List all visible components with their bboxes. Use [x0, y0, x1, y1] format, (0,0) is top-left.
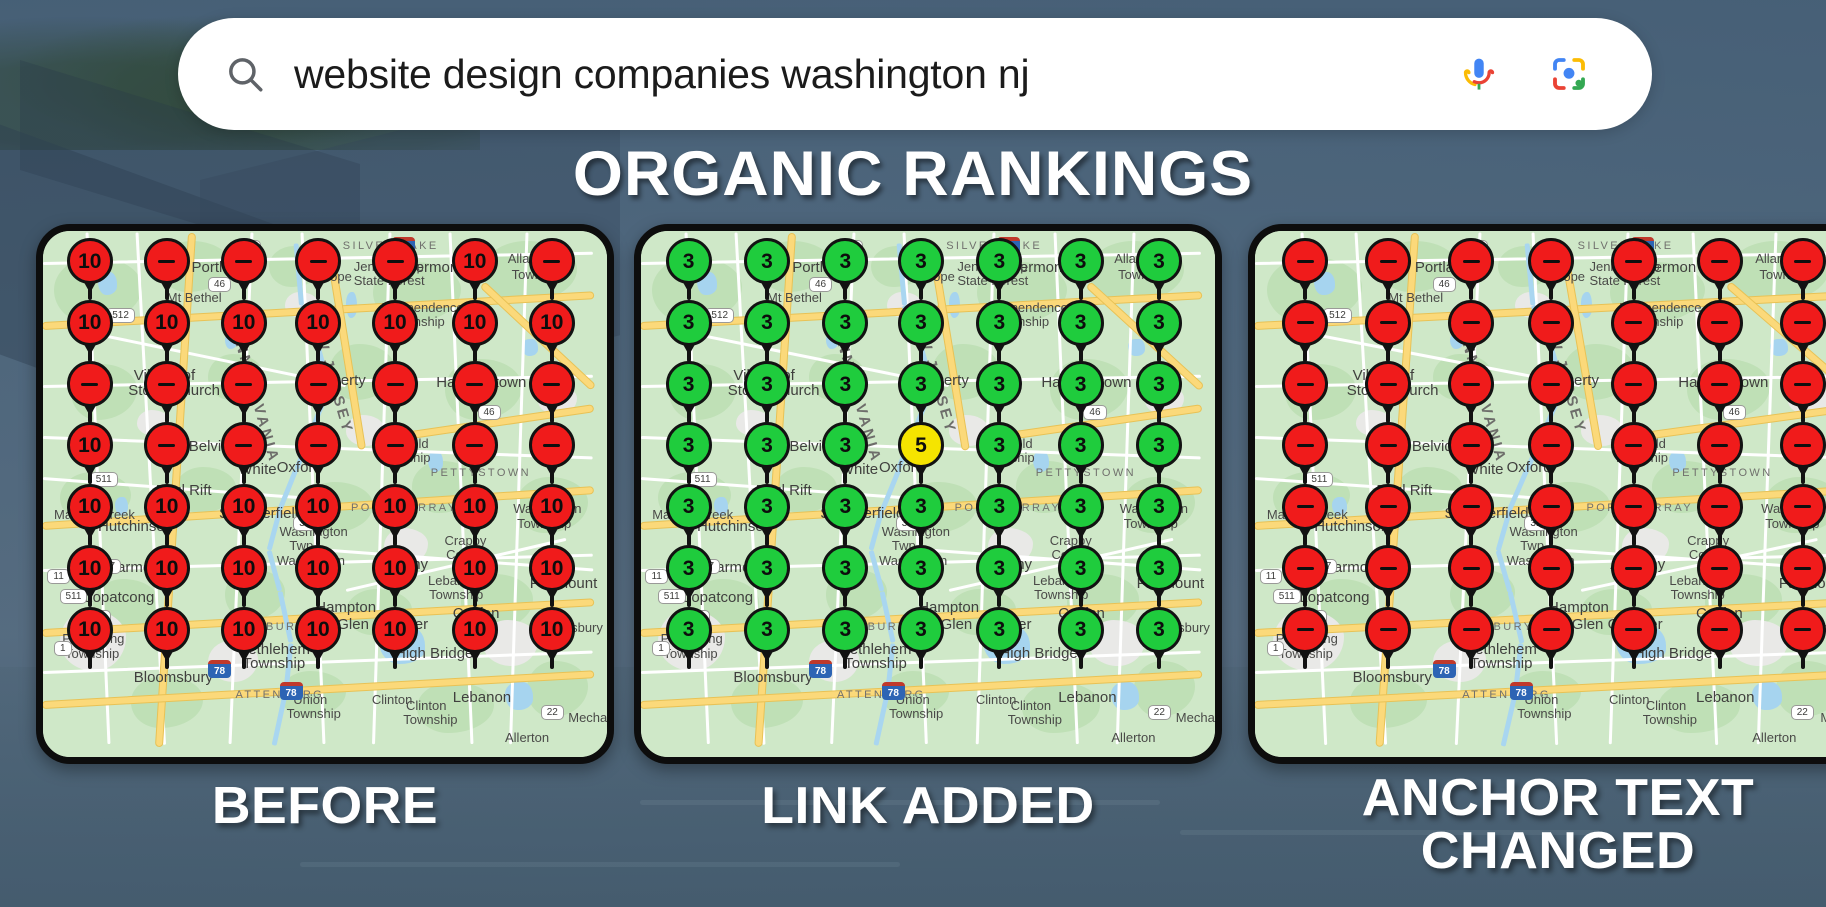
map-route-shield: 11 — [1260, 569, 1282, 584]
caption-before: BEFORE — [27, 780, 622, 833]
pin-rank-label — [1528, 607, 1574, 653]
map-rank-pin[interactable] — [1448, 545, 1494, 607]
map-rank-pin[interactable]: 10 — [529, 607, 575, 669]
map-rank-pin[interactable] — [1611, 238, 1657, 300]
map-rank-pin[interactable] — [1282, 361, 1328, 423]
search-input[interactable] — [294, 51, 1458, 98]
map-rank-pin[interactable]: 10 — [372, 545, 418, 607]
caption-line: ANCHOR TEXT — [1239, 772, 1826, 825]
map-rank-pin[interactable]: 10 — [67, 484, 113, 546]
pin-no-rank-dash — [310, 383, 327, 386]
map-rank-pin[interactable]: 10 — [529, 545, 575, 607]
map-rank-pin[interactable] — [1365, 607, 1411, 669]
map-rank-pin[interactable]: 10 — [529, 300, 575, 362]
map-rank-pin[interactable] — [144, 422, 190, 484]
map-rank-pin[interactable] — [1611, 607, 1657, 669]
map-rank-pin[interactable]: 3 — [1136, 545, 1182, 607]
map-rank-pin[interactable] — [1528, 484, 1574, 546]
pin-rank-label — [1282, 300, 1328, 346]
pin-rank-label: 10 — [529, 300, 575, 346]
pin-rank-label — [1528, 484, 1574, 530]
pin-no-rank-dash — [158, 260, 175, 263]
pin-no-rank-dash — [1794, 444, 1811, 447]
map-rank-pin[interactable] — [1611, 300, 1657, 362]
map-rank-pin[interactable]: 3 — [976, 422, 1022, 484]
pin-rank-label — [1611, 300, 1657, 346]
pin-rank-label — [295, 422, 341, 468]
pin-rank-label: 10 — [67, 607, 113, 653]
map-rank-pin[interactable]: 3 — [1058, 300, 1104, 362]
map-rank-pin[interactable] — [1611, 422, 1657, 484]
map-rank-pin[interactable] — [1780, 607, 1826, 669]
pin-rank-label: 10 — [144, 607, 190, 653]
pin-no-rank-dash — [1463, 505, 1480, 508]
map-rank-pin[interactable]: 3 — [1058, 484, 1104, 546]
pin-no-rank-dash — [1625, 444, 1642, 447]
pin-rank-label — [1611, 607, 1657, 653]
map-rank-pin[interactable] — [1528, 422, 1574, 484]
map-rank-pin[interactable]: 3 — [976, 300, 1022, 362]
map-rank-pin[interactable] — [1282, 238, 1328, 300]
map-rank-pin[interactable]: 3 — [1136, 607, 1182, 669]
pin-rank-label — [1282, 238, 1328, 284]
map-rank-pin[interactable] — [1448, 422, 1494, 484]
microphone-icon[interactable] — [1458, 53, 1500, 95]
pin-rank-label — [1528, 422, 1574, 468]
pin-no-rank-dash — [1297, 567, 1314, 570]
map-water-body — [1752, 682, 1782, 710]
pin-no-rank-dash — [1794, 567, 1811, 570]
map-rank-pin[interactable]: 10 — [372, 484, 418, 546]
pin-rank-label: 10 — [452, 300, 498, 346]
pin-rank-label: 10 — [529, 607, 575, 653]
pin-no-rank-dash — [158, 444, 175, 447]
pin-rank-label — [1448, 361, 1494, 407]
pin-rank-label: 3 — [744, 300, 790, 346]
map-rank-pin[interactable]: 3 — [976, 361, 1022, 423]
map-rank-pin[interactable]: 3 — [744, 238, 790, 300]
pin-rank-label: 3 — [822, 545, 868, 591]
pin-rank-label — [1365, 545, 1411, 591]
map-rank-pin[interactable] — [1780, 300, 1826, 362]
map-rank-pin[interactable] — [1448, 361, 1494, 423]
map-rank-pin[interactable]: 3 — [898, 300, 944, 362]
pin-no-rank-dash — [387, 260, 404, 263]
pin-no-rank-dash — [235, 383, 252, 386]
map-rank-pin[interactable]: 10 — [452, 607, 498, 669]
map-rank-pin[interactable]: 3 — [666, 422, 712, 484]
map-rank-pin[interactable]: 3 — [822, 422, 868, 484]
map-rank-pin[interactable] — [452, 361, 498, 423]
map-rank-pin[interactable] — [529, 422, 575, 484]
pin-no-rank-dash — [1711, 567, 1728, 570]
pin-rank-label: 3 — [1058, 300, 1104, 346]
map-route-shield: 22 — [541, 705, 564, 720]
map-rank-pin[interactable]: 10 — [67, 545, 113, 607]
map-river — [874, 694, 890, 746]
pin-rank-label: 3 — [976, 422, 1022, 468]
pin-no-rank-dash — [1625, 321, 1642, 324]
pin-rank-label: 3 — [898, 238, 944, 284]
map-rank-pin[interactable] — [1697, 361, 1743, 423]
map-rank-pin[interactable] — [1697, 484, 1743, 546]
map-rank-pin[interactable] — [529, 238, 575, 300]
map-rank-pin[interactable]: 10 — [67, 422, 113, 484]
pin-no-rank-dash — [1543, 321, 1560, 324]
map-rank-pin[interactable] — [1780, 484, 1826, 546]
map-rank-pin[interactable] — [221, 361, 267, 423]
pin-rank-label: 3 — [822, 422, 868, 468]
pin-rank-label: 3 — [1136, 484, 1182, 530]
map-route-shield: 22 — [1148, 705, 1171, 720]
map-rank-pin[interactable]: 10 — [144, 607, 190, 669]
pin-rank-label: 10 — [67, 545, 113, 591]
map-rank-pin[interactable]: 3 — [898, 484, 944, 546]
map-rank-pin[interactable] — [1282, 300, 1328, 362]
pin-rank-label: 3 — [976, 607, 1022, 653]
map-river — [272, 694, 288, 746]
map-rank-pin[interactable] — [1448, 484, 1494, 546]
map-rank-pin[interactable]: 3 — [898, 361, 944, 423]
map-place-label: Bloomsbury — [733, 669, 812, 686]
map-rank-pin[interactable] — [1365, 300, 1411, 362]
map-route-shield: 22 — [1791, 705, 1814, 720]
pin-rank-label: 3 — [898, 484, 944, 530]
map-rank-pin[interactable]: 3 — [744, 422, 790, 484]
map-place-label: Bloomsbury — [1353, 669, 1432, 686]
map-rank-pin[interactable]: 3 — [1058, 545, 1104, 607]
pin-rank-label — [1697, 238, 1743, 284]
map-rank-pin[interactable] — [144, 361, 190, 423]
map-rank-pin[interactable]: 5 — [898, 422, 944, 484]
pin-no-rank-dash — [310, 444, 327, 447]
map-rank-pin[interactable]: 3 — [666, 238, 712, 300]
pin-rank-label: 3 — [1058, 361, 1104, 407]
pin-rank-label — [1780, 238, 1826, 284]
pin-rank-label: 3 — [822, 607, 868, 653]
pin-rank-label: 3 — [1136, 607, 1182, 653]
map-rank-pin[interactable] — [1611, 545, 1657, 607]
map-rank-pin[interactable]: 3 — [976, 607, 1022, 669]
map-rank-pin[interactable]: 3 — [976, 545, 1022, 607]
map-rank-pin[interactable]: 3 — [1058, 238, 1104, 300]
map-rank-pin[interactable]: 10 — [295, 545, 341, 607]
pin-rank-label — [1611, 484, 1657, 530]
pin-no-rank-dash — [1711, 628, 1728, 631]
pin-no-rank-dash — [1297, 321, 1314, 324]
map-rank-pin[interactable]: 10 — [221, 607, 267, 669]
pin-rank-label: 10 — [144, 545, 190, 591]
pin-no-rank-dash — [1297, 260, 1314, 263]
pin-rank-label — [1282, 545, 1328, 591]
map-rank-pin[interactable]: 3 — [744, 607, 790, 669]
map-rank-pin[interactable] — [1448, 238, 1494, 300]
map-rank-pin[interactable]: 3 — [666, 545, 712, 607]
pin-rank-label — [1365, 361, 1411, 407]
pin-rank-label — [1528, 361, 1574, 407]
map-rank-pin[interactable]: 10 — [452, 484, 498, 546]
pin-rank-label — [1780, 484, 1826, 530]
pin-rank-label: 3 — [1058, 607, 1104, 653]
map-rank-pin[interactable] — [1282, 422, 1328, 484]
pin-no-rank-dash — [1625, 383, 1642, 386]
map-surface[interactable]: PortlandMt HermonMt BethelAllamuchyTowns… — [43, 231, 607, 757]
map-rank-pin[interactable] — [1780, 238, 1826, 300]
map-rank-pin[interactable] — [1365, 422, 1411, 484]
map-rank-pin[interactable] — [221, 422, 267, 484]
map-place-label: Township — [1008, 712, 1062, 727]
pin-no-rank-dash — [466, 444, 483, 447]
map-rank-pin[interactable]: 10 — [67, 238, 113, 300]
pin-no-rank-dash — [1463, 321, 1480, 324]
map-surface[interactable]: PortlandMt HermonMt BethelAllamuchyTowns… — [1255, 231, 1826, 757]
pin-no-rank-dash — [1380, 505, 1397, 508]
pin-rank-label: 3 — [822, 484, 868, 530]
map-place-label: Mechanicsville — [1176, 710, 1222, 725]
pin-rank-label — [1448, 545, 1494, 591]
pin-rank-label: 10 — [144, 300, 190, 346]
pin-rank-label — [295, 238, 341, 284]
pin-rank-label — [372, 422, 418, 468]
map-rank-pin[interactable] — [1448, 607, 1494, 669]
map-rank-pin[interactable]: 3 — [822, 545, 868, 607]
pin-rank-label — [1448, 422, 1494, 468]
map-rank-pin[interactable] — [1528, 238, 1574, 300]
map-rank-pin[interactable]: 3 — [822, 361, 868, 423]
pin-no-rank-dash — [1543, 567, 1560, 570]
pin-rank-label: 3 — [666, 545, 712, 591]
pin-rank-label — [1365, 607, 1411, 653]
pin-rank-label — [1528, 300, 1574, 346]
map-rank-pin[interactable]: 10 — [372, 300, 418, 362]
pin-rank-label — [67, 361, 113, 407]
pin-no-rank-dash — [1711, 444, 1728, 447]
pin-no-rank-dash — [1463, 444, 1480, 447]
pin-rank-label — [1780, 422, 1826, 468]
pin-rank-label: 10 — [452, 238, 498, 284]
map-rank-pin[interactable]: 10 — [67, 300, 113, 362]
map-rank-pin[interactable] — [295, 361, 341, 423]
pin-no-rank-dash — [1543, 444, 1560, 447]
map-rank-pin[interactable] — [372, 361, 418, 423]
map-rank-pin[interactable]: 3 — [898, 607, 944, 669]
pin-rank-label — [144, 422, 190, 468]
pin-no-rank-dash — [387, 383, 404, 386]
map-rank-pin[interactable]: 10 — [221, 484, 267, 546]
pin-no-rank-dash — [1543, 260, 1560, 263]
map-rank-pin[interactable] — [1697, 422, 1743, 484]
map-panel-link-added[interactable]: PortlandMt HermonMt BethelAllamuchyTowns… — [634, 224, 1222, 764]
map-rank-pin[interactable] — [221, 238, 267, 300]
map-rank-pin[interactable] — [295, 422, 341, 484]
pin-rank-label: 3 — [1058, 422, 1104, 468]
map-place-label: Township — [889, 706, 943, 721]
map-rank-pin[interactable] — [1697, 300, 1743, 362]
map-rank-pin[interactable]: 3 — [666, 484, 712, 546]
map-surface[interactable]: PortlandMt HermonMt BethelAllamuchyTowns… — [641, 231, 1215, 757]
pin-no-rank-dash — [1463, 383, 1480, 386]
pin-rank-label: 10 — [372, 300, 418, 346]
map-rank-pin[interactable]: 3 — [666, 300, 712, 362]
map-rank-pin[interactable]: 3 — [744, 545, 790, 607]
pin-no-rank-dash — [543, 444, 560, 447]
map-rank-pin[interactable]: 3 — [666, 361, 712, 423]
map-rank-pin[interactable] — [372, 422, 418, 484]
map-rank-pin[interactable]: 10 — [221, 545, 267, 607]
map-rank-pin[interactable] — [1780, 422, 1826, 484]
map-rank-pin[interactable] — [1611, 484, 1657, 546]
map-rank-pin[interactable]: 10 — [295, 300, 341, 362]
map-rank-pin[interactable]: 3 — [1136, 484, 1182, 546]
map-rank-pin[interactable] — [372, 238, 418, 300]
map-rank-pin[interactable] — [144, 238, 190, 300]
map-rank-pin[interactable]: 3 — [1058, 422, 1104, 484]
pin-rank-label — [1528, 238, 1574, 284]
pin-rank-label — [1780, 607, 1826, 653]
pin-no-rank-dash — [1711, 321, 1728, 324]
pin-no-rank-dash — [1463, 628, 1480, 631]
map-rank-pin[interactable]: 3 — [976, 484, 1022, 546]
map-rank-pin[interactable]: 10 — [372, 607, 418, 669]
pin-rank-label — [1528, 545, 1574, 591]
caption-line: LINK ADDED — [625, 780, 1231, 833]
map-rank-pin[interactable]: 3 — [822, 484, 868, 546]
map-rank-pin[interactable]: 3 — [1136, 238, 1182, 300]
map-rank-pin[interactable] — [1697, 545, 1743, 607]
map-rank-pin[interactable] — [452, 422, 498, 484]
pin-rank-label: 3 — [1136, 422, 1182, 468]
map-rank-pin[interactable]: 3 — [1136, 422, 1182, 484]
pin-no-rank-dash — [1380, 383, 1397, 386]
map-place-label: Mechanicsville — [1820, 710, 1826, 725]
map-rank-pin[interactable] — [1282, 545, 1328, 607]
pin-rank-label: 10 — [67, 484, 113, 530]
map-rank-pin[interactable] — [1780, 361, 1826, 423]
pin-rank-label: 10 — [529, 545, 575, 591]
page-title: ORGANIC RANKINGS — [0, 138, 1826, 210]
map-place-label: Township — [403, 712, 457, 727]
pin-no-rank-dash — [1794, 321, 1811, 324]
map-place-label: Allerton — [505, 730, 549, 745]
map-rank-pin[interactable]: 3 — [744, 361, 790, 423]
pin-no-rank-dash — [158, 383, 175, 386]
map-rank-pin[interactable]: 3 — [1058, 361, 1104, 423]
map-rank-pin[interactable]: 10 — [144, 484, 190, 546]
map-place-label: Clinton — [1011, 698, 1051, 713]
map-rank-pin[interactable]: 3 — [1058, 607, 1104, 669]
pin-rank-label: 3 — [666, 607, 712, 653]
map-panels-row: PortlandMt HermonMt BethelAllamuchyTowns… — [0, 224, 1826, 764]
pin-rank-label: 3 — [976, 484, 1022, 530]
map-rank-pin[interactable]: 3 — [744, 484, 790, 546]
map-rank-pin[interactable] — [1611, 361, 1657, 423]
map-place-label: Allerton — [1111, 730, 1155, 745]
pin-rank-label: 5 — [898, 422, 944, 468]
map-rank-pin[interactable] — [1697, 238, 1743, 300]
pin-rank-label: 10 — [67, 238, 113, 284]
pin-no-rank-dash — [1711, 260, 1728, 263]
map-rank-pin[interactable]: 3 — [744, 300, 790, 362]
map-rank-pin[interactable]: 10 — [295, 607, 341, 669]
map-rank-pin[interactable]: 10 — [529, 484, 575, 546]
map-rank-pin[interactable] — [1528, 361, 1574, 423]
pin-rank-label: 10 — [221, 545, 267, 591]
map-rank-pin[interactable]: 3 — [898, 545, 944, 607]
pin-rank-label — [144, 361, 190, 407]
pin-no-rank-dash — [1463, 260, 1480, 263]
map-panel-anchor-text-changed[interactable]: PortlandMt HermonMt BethelAllamuchyTowns… — [1248, 224, 1826, 764]
pin-rank-label: 3 — [1136, 300, 1182, 346]
map-rank-pin[interactable]: 3 — [898, 238, 944, 300]
pin-rank-label — [295, 361, 341, 407]
pin-rank-label — [144, 238, 190, 284]
map-rank-pin[interactable] — [1282, 484, 1328, 546]
map-rank-pin[interactable]: 10 — [452, 300, 498, 362]
map-interstate-shield: 78 — [882, 682, 905, 700]
map-rank-pin[interactable]: 3 — [822, 300, 868, 362]
google-lens-icon[interactable] — [1548, 53, 1590, 95]
pin-rank-label: 10 — [452, 545, 498, 591]
pin-rank-label: 3 — [1058, 484, 1104, 530]
map-rank-pin[interactable]: 3 — [822, 238, 868, 300]
map-rank-pin[interactable] — [1365, 545, 1411, 607]
pin-no-rank-dash — [1297, 444, 1314, 447]
pin-no-rank-dash — [1380, 567, 1397, 570]
map-rank-pin[interactable]: 10 — [295, 484, 341, 546]
map-rank-pin[interactable]: 3 — [822, 607, 868, 669]
map-interstate-shield: 78 — [1510, 682, 1533, 700]
map-rank-pin[interactable]: 10 — [67, 607, 113, 669]
pin-rank-label — [1365, 422, 1411, 468]
map-rank-pin[interactable]: 10 — [144, 545, 190, 607]
map-rank-pin[interactable]: 10 — [452, 545, 498, 607]
pin-rank-label: 3 — [744, 545, 790, 591]
map-rank-pin[interactable] — [529, 361, 575, 423]
map-rank-pin[interactable] — [1365, 238, 1411, 300]
map-rank-pin[interactable] — [1528, 300, 1574, 362]
map-rank-pin[interactable] — [1365, 361, 1411, 423]
map-rank-pin[interactable]: 3 — [666, 607, 712, 669]
pin-no-rank-dash — [543, 383, 560, 386]
pin-no-rank-dash — [1543, 383, 1560, 386]
map-rank-pin[interactable]: 10 — [144, 300, 190, 362]
pin-no-rank-dash — [235, 444, 252, 447]
map-rank-pin[interactable] — [1528, 545, 1574, 607]
map-rank-pin[interactable] — [1780, 545, 1826, 607]
map-rank-pin[interactable]: 10 — [221, 300, 267, 362]
pin-no-rank-dash — [387, 444, 404, 447]
map-rank-pin[interactable] — [1365, 484, 1411, 546]
map-rank-pin[interactable] — [1697, 607, 1743, 669]
map-place-label: Clinton — [1646, 698, 1686, 713]
map-rank-pin[interactable] — [295, 238, 341, 300]
map-place-label: Clinton — [406, 698, 446, 713]
pin-rank-label: 10 — [295, 607, 341, 653]
map-rank-pin[interactable]: 3 — [1136, 361, 1182, 423]
map-rank-pin[interactable]: 10 — [452, 238, 498, 300]
google-search-bar[interactable] — [178, 18, 1652, 130]
map-rank-pin[interactable]: 3 — [976, 238, 1022, 300]
map-rank-pin[interactable] — [1528, 607, 1574, 669]
map-place-label: Mechanicsville — [568, 710, 614, 725]
pin-rank-label: 10 — [67, 300, 113, 346]
map-rank-pin[interactable] — [1282, 607, 1328, 669]
pin-rank-label — [1697, 545, 1743, 591]
map-panel-before[interactable]: PortlandMt HermonMt BethelAllamuchyTowns… — [36, 224, 614, 764]
map-rank-pin[interactable] — [67, 361, 113, 423]
map-rank-pin[interactable]: 3 — [1136, 300, 1182, 362]
map-rank-pin[interactable] — [1448, 300, 1494, 362]
